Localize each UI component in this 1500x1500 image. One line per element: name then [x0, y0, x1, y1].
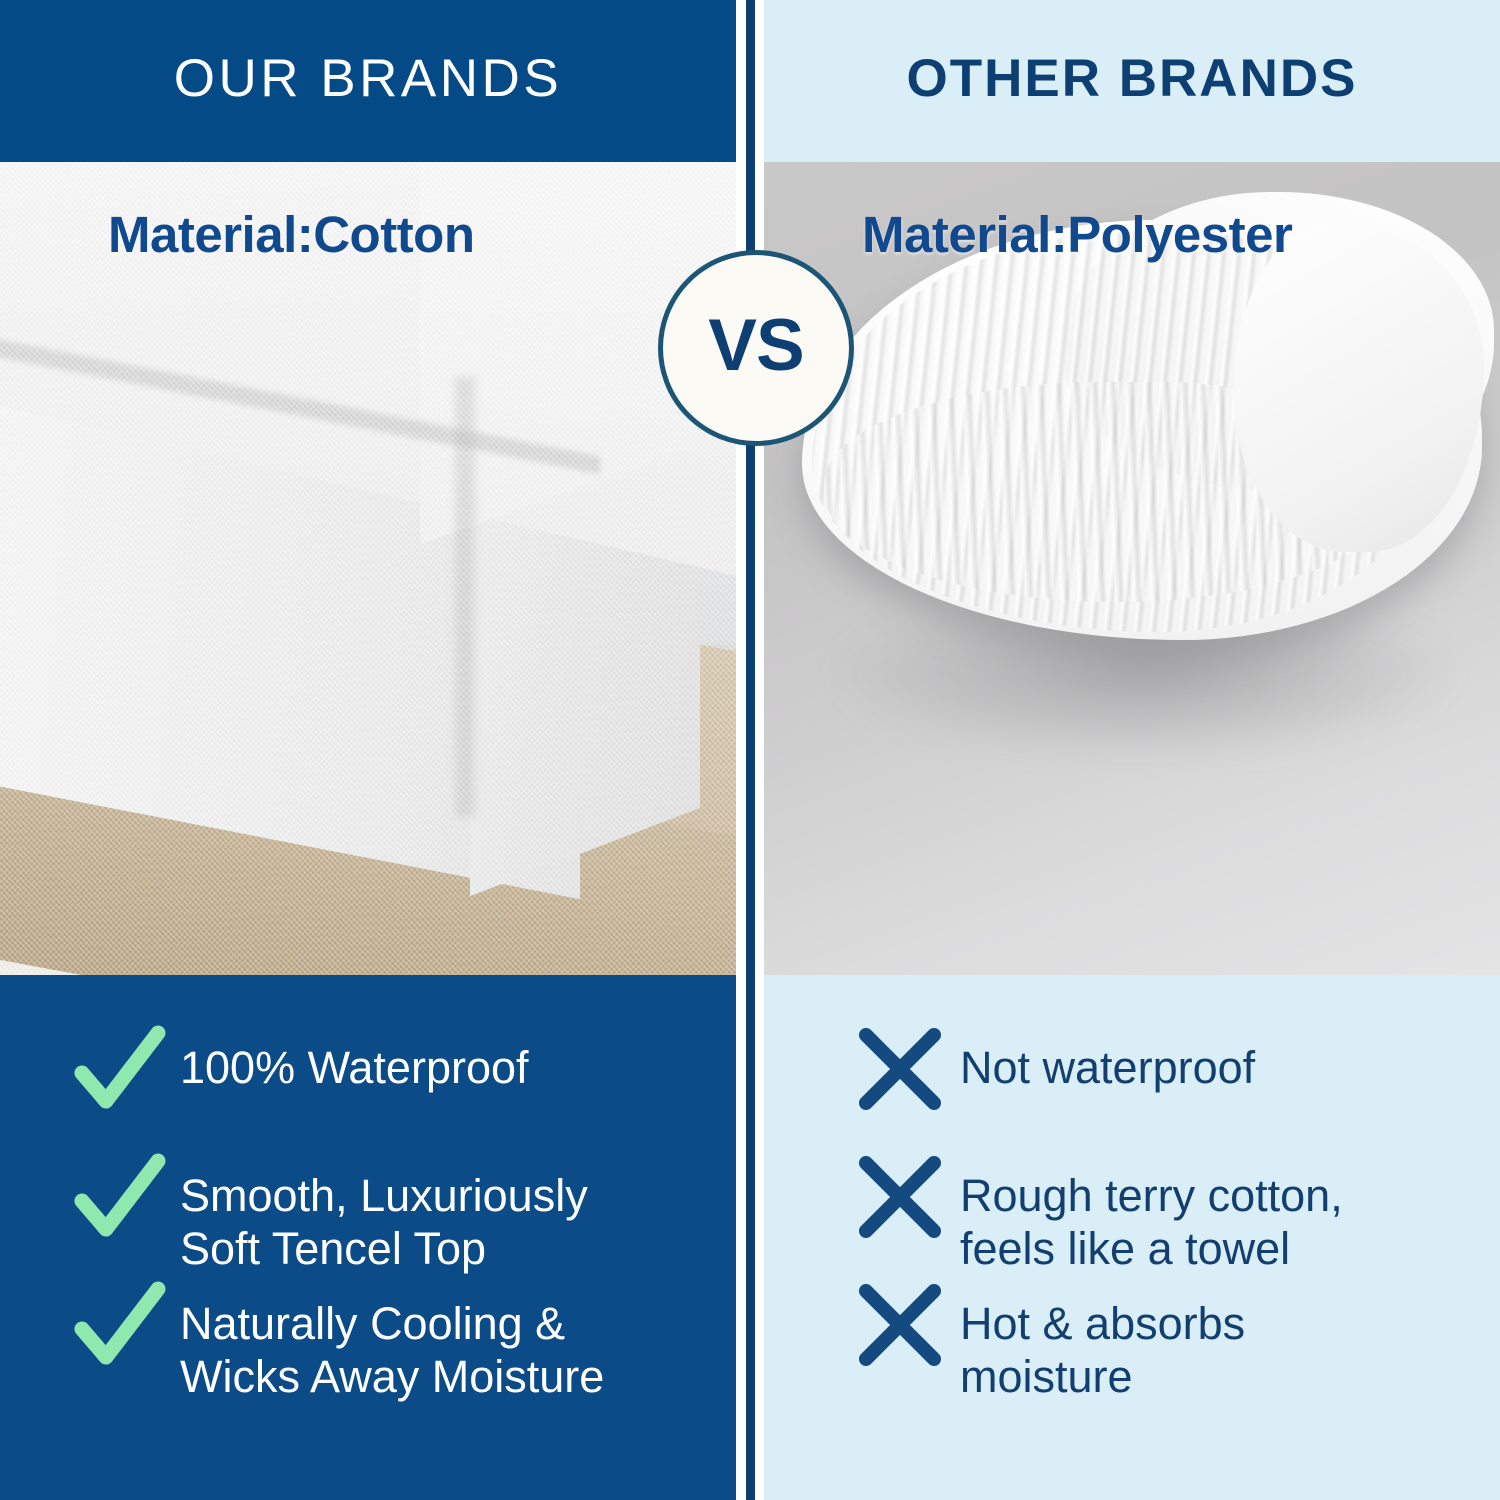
feature-item: Naturally Cooling & Wicks Away Moisture — [0, 1283, 736, 1411]
feature-item: Smooth, Luxuriously Soft Tencel Top — [0, 1155, 736, 1283]
our-brands-feature-list: 100% Waterproof Smooth, Luxuriously Soft… — [0, 975, 736, 1500]
vs-badge: VS — [658, 250, 854, 446]
cross-icon — [852, 1277, 948, 1373]
other-brands-feature-list: Not waterproof Rough terry cotton, feels… — [764, 975, 1500, 1500]
feature-label: Hot & absorbs moisture — [960, 1283, 1245, 1403]
other-brands-product-photo — [764, 162, 1500, 975]
feature-label: 100% Waterproof — [180, 1027, 529, 1094]
column-divider-line — [746, 0, 755, 1500]
fabric-fold — [1234, 222, 1484, 552]
our-brands-column: OUR BRANDS Material:Cotton 100% Waterpro… — [0, 0, 736, 1500]
other-brands-column: OTHER BRANDS Material:Polyester Not wate… — [764, 0, 1500, 1500]
our-brands-material-label: Material:Cotton — [108, 205, 474, 264]
feature-label: Naturally Cooling & Wicks Away Moisture — [180, 1283, 604, 1403]
cross-icon — [852, 1149, 948, 1245]
comparison-infographic: OUR BRANDS Material:Cotton 100% Waterpro… — [0, 0, 1500, 1500]
feature-item: Not waterproof — [764, 1027, 1500, 1155]
other-brands-header: OTHER BRANDS — [764, 0, 1500, 162]
check-icon — [72, 1149, 168, 1245]
feature-label: Smooth, Luxuriously Soft Tencel Top — [180, 1155, 588, 1275]
feature-item: Rough terry cotton, feels like a towel — [764, 1155, 1500, 1283]
feature-label: Rough terry cotton, feels like a towel — [960, 1155, 1343, 1275]
other-brands-title: OTHER BRANDS — [764, 52, 1500, 105]
vs-label: VS — [708, 309, 803, 387]
our-brands-product-photo — [0, 162, 736, 975]
cross-icon — [852, 1021, 948, 1117]
check-icon — [72, 1277, 168, 1373]
mattress-corner-crease — [455, 377, 475, 817]
feature-label: Not waterproof — [960, 1027, 1255, 1094]
other-brands-material-label: Material:Polyester — [862, 205, 1292, 264]
feature-item: Hot & absorbs moisture — [764, 1283, 1500, 1411]
check-icon — [72, 1021, 168, 1117]
our-brands-title: OUR BRANDS — [0, 52, 736, 105]
our-brands-header: OUR BRANDS — [0, 0, 736, 162]
feature-item: 100% Waterproof — [0, 1027, 736, 1155]
